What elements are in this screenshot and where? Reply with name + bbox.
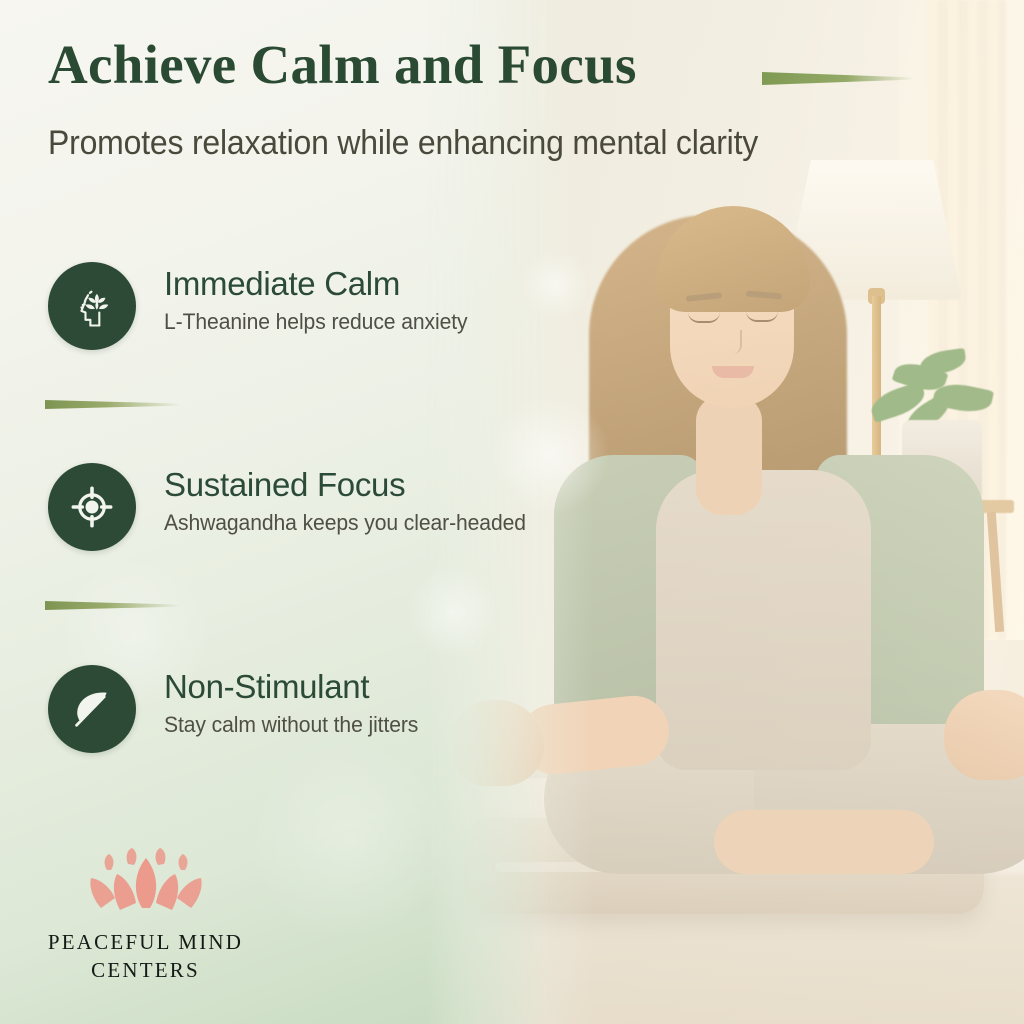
feature-text: Non-Stimulant Stay calm without the jitt… <box>164 665 429 738</box>
feature-title: Immediate Calm <box>164 266 480 302</box>
feature-text: Immediate Calm L-Theanine helps reduce a… <box>164 262 480 335</box>
feature-divider <box>45 400 181 409</box>
feature-text: Sustained Focus Ashwagandha keeps you cl… <box>164 463 541 536</box>
feature-subtitle: L-Theanine helps reduce anxiety <box>164 309 467 335</box>
feature-item-immediate-calm[interactable]: Immediate Calm L-Theanine helps reduce a… <box>48 262 480 350</box>
leaf-icon <box>48 665 136 753</box>
page-title: Achieve Calm and Focus <box>48 36 637 94</box>
lotus-flower-logo-icon <box>76 842 216 920</box>
feature-divider <box>45 601 181 610</box>
feature-item-non-stimulant[interactable]: Non-Stimulant Stay calm without the jitt… <box>48 665 429 753</box>
feature-title: Non-Stimulant <box>164 669 429 705</box>
brand-logo[interactable]: PEACEFUL MIND CENTERS <box>38 842 253 985</box>
feature-item-sustained-focus[interactable]: Sustained Focus Ashwagandha keeps you cl… <box>48 463 541 551</box>
page-subtitle: Promotes relaxation while enhancing ment… <box>48 124 758 163</box>
head-with-lotus-icon <box>48 262 136 350</box>
bokeh-dot <box>250 740 450 940</box>
feature-subtitle: Stay calm without the jitters <box>164 712 418 738</box>
feature-subtitle: Ashwagandha keeps you clear-headed <box>164 510 526 536</box>
brand-name-line-2: CENTERS <box>38 956 253 984</box>
promo-poster: Achieve Calm and Focus Promotes relaxati… <box>0 0 1024 1024</box>
brand-name-line-1: PEACEFUL MIND <box>38 928 253 956</box>
crosshair-target-icon <box>48 463 136 551</box>
feature-title: Sustained Focus <box>164 467 541 503</box>
